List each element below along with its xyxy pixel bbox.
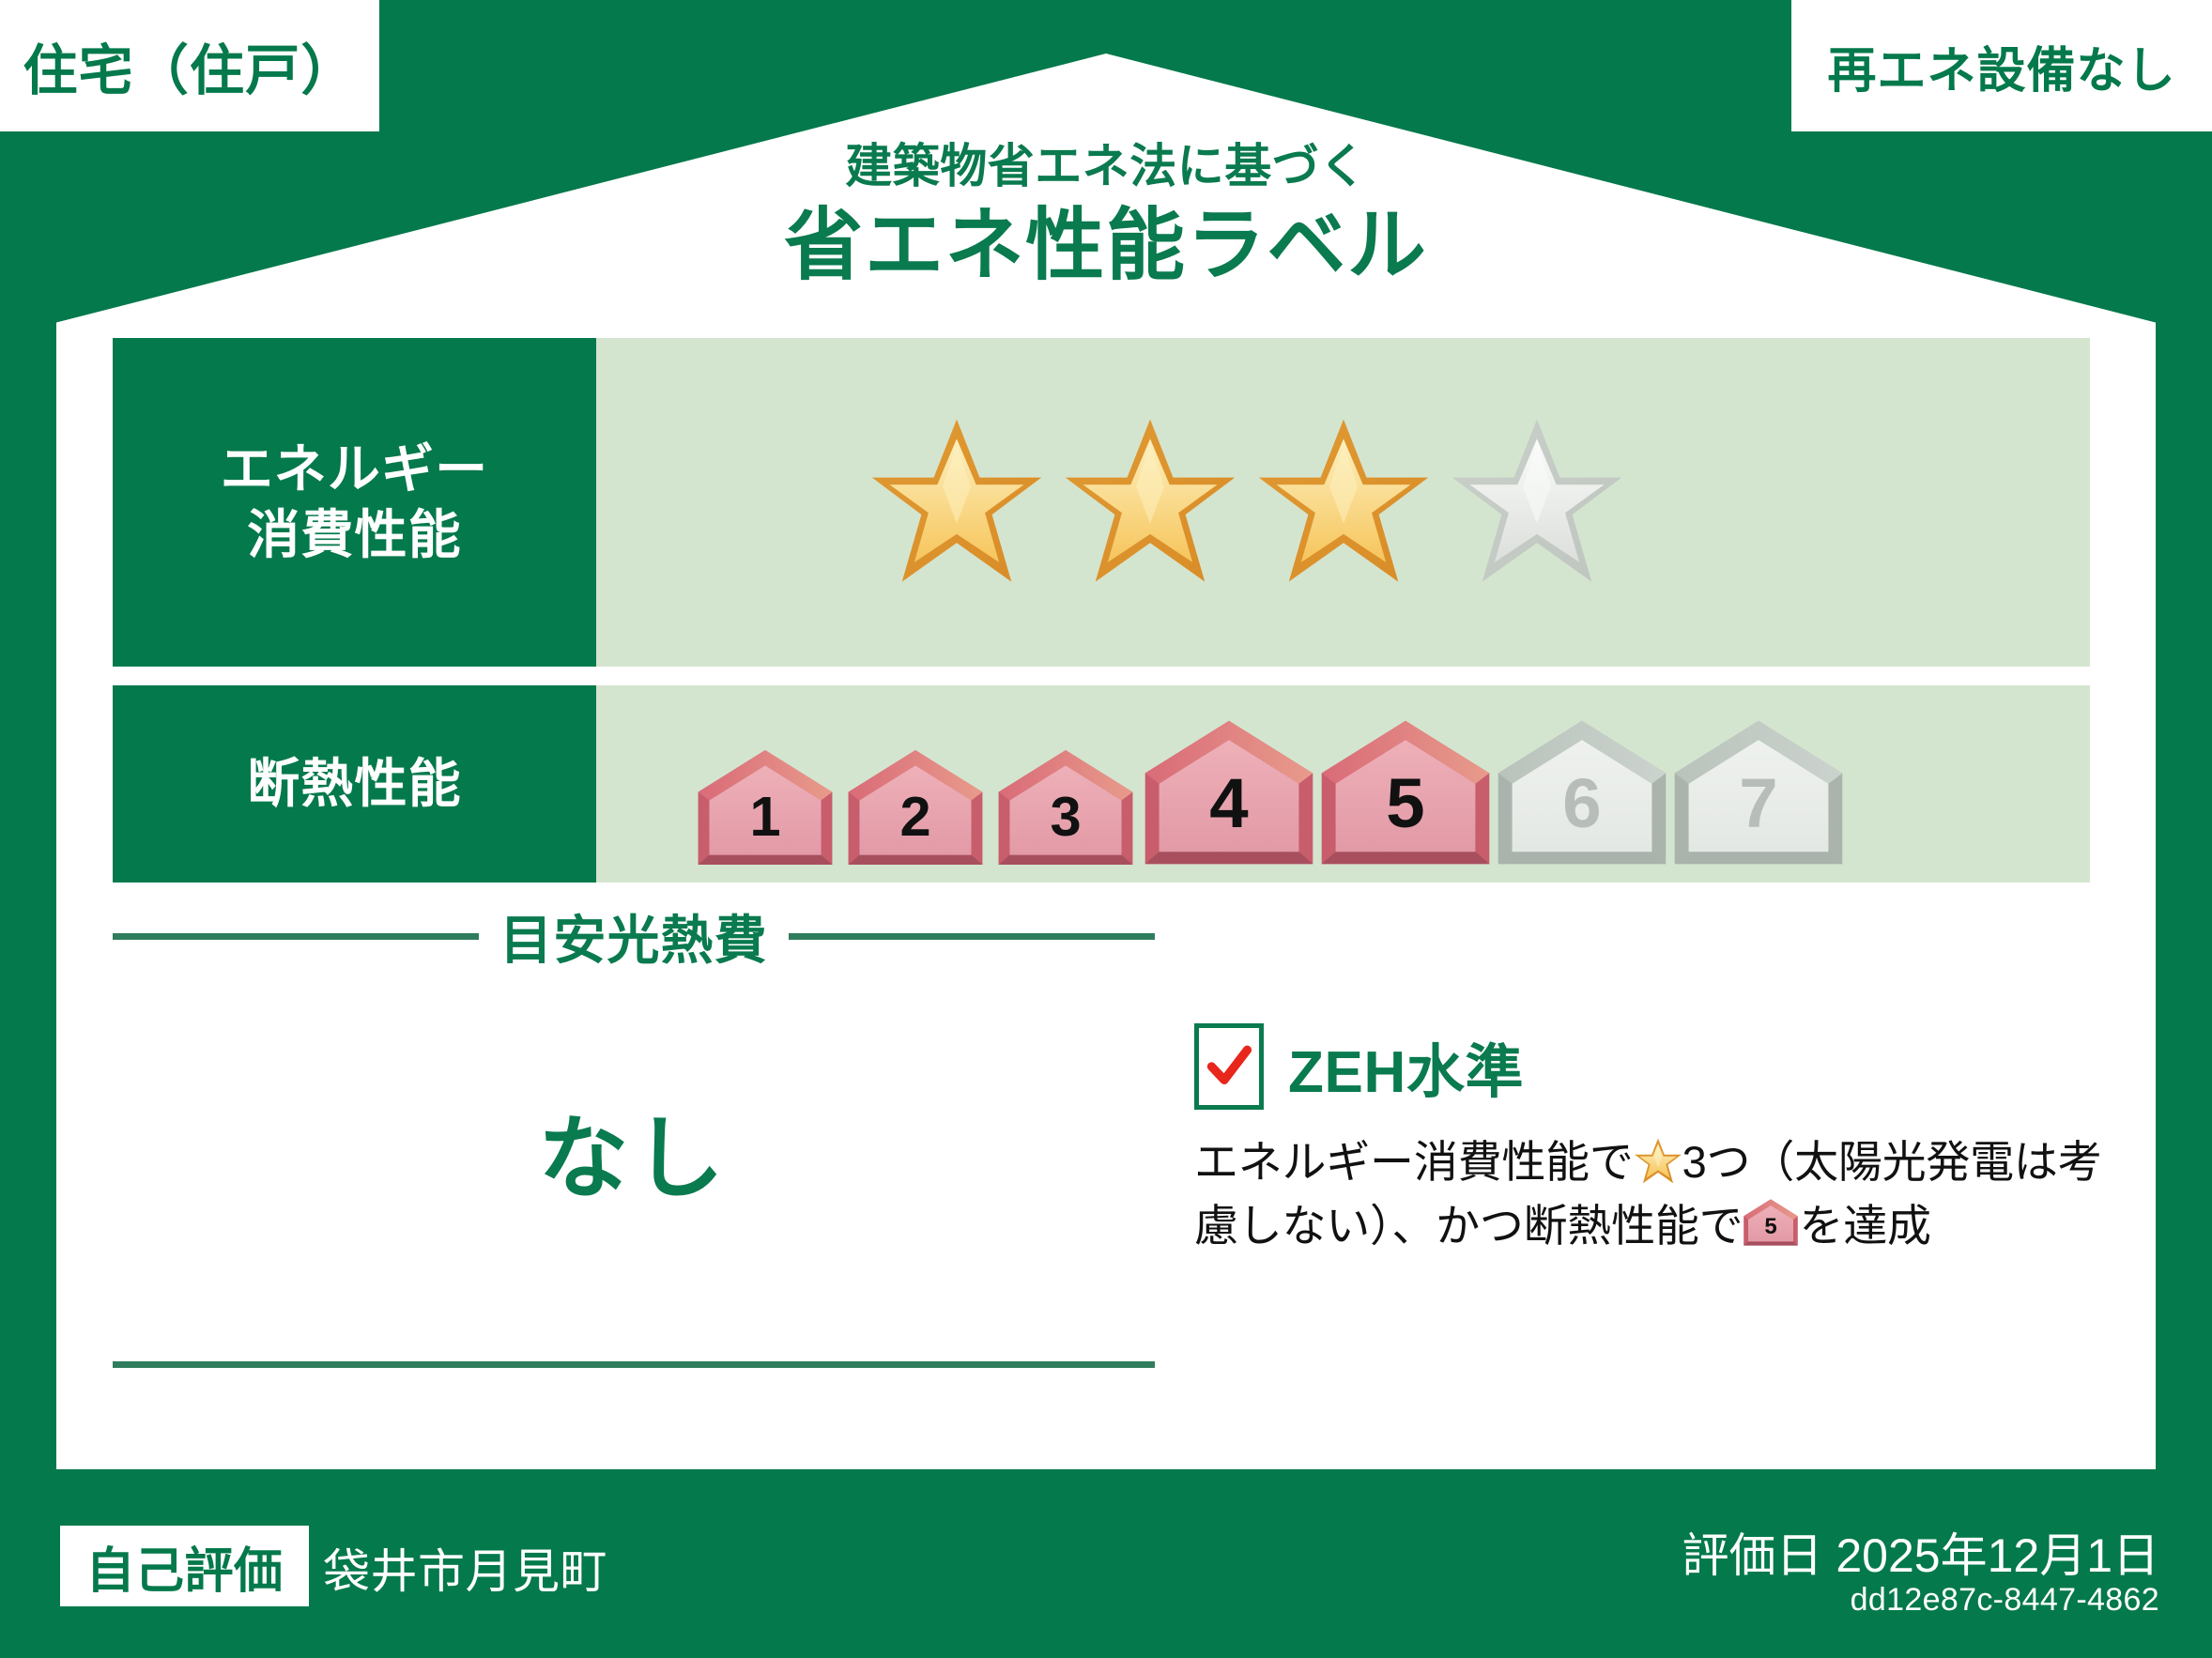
star-filled-icon [1634, 1137, 1682, 1186]
insulation-grade-house: 5 [1317, 717, 1494, 867]
insulation-performance-label: 断熱性能 [113, 685, 596, 883]
energy-label-line1: エネルギー [221, 439, 489, 499]
svg-text:3: 3 [1050, 785, 1081, 848]
zeh-desc-part2: 3つ（太陽光発電 [1682, 1137, 2014, 1187]
insulation-grade-house: 7 [1670, 717, 1847, 867]
evaluation-id: dd12e87c-8447-4862 [1851, 1582, 2159, 1619]
zeh-standard-block: ZEH水準 エネルギー消費性能で3つ（太陽光発電は考慮しない）、かつ断熱性能で5… [1194, 1023, 2114, 1258]
insulation-performance-row: 断熱性能 1234567 [113, 685, 2090, 883]
zeh-desc-part4: を達成 [1799, 1201, 1930, 1251]
label-footer: 自己評価 袋井市月見町 評価日 2025年12月1日 dd12e87c-8447… [0, 1469, 2212, 1658]
renewable-energy-label: 再エネ設備なし [1827, 31, 2175, 101]
svg-text:1: 1 [749, 785, 780, 848]
energy-performance-label: エネルギー 消費性能 [113, 338, 596, 667]
utility-cost-value: なし [113, 1061, 1155, 1239]
evaluation-type-badge: 自己評価 [60, 1526, 309, 1606]
svg-text:5: 5 [1765, 1214, 1777, 1239]
insulation-grade-scale: 1234567 [596, 685, 2090, 883]
insulation-grade-houses: 1234567 [690, 717, 1847, 867]
svg-text:5: 5 [1386, 764, 1424, 842]
energy-label-line2: 消費性能 [247, 505, 461, 564]
zeh-description: エネルギー消費性能で3つ（太陽光発電は考慮しない）、かつ断熱性能で5を達成 [1194, 1130, 2114, 1258]
energy-label-root: 住宅（住戸） 再エネ設備なし 建築物省エネ法に基づく 省エネ性能ラベル エネルギ… [0, 0, 2212, 1658]
svg-text:4: 4 [1209, 764, 1248, 842]
renewable-energy-tag: 再エネ設備なし [1791, 0, 2212, 131]
star-empty-icon [1449, 414, 1625, 591]
energy-star-rating [596, 338, 2090, 667]
check-icon [1204, 1041, 1254, 1092]
star-filled-icon [868, 414, 1045, 591]
insulation-grade-house: 6 [1494, 717, 1670, 867]
utility-cost-section-header: 目安光熱費 [113, 903, 1155, 969]
building-type-tag: 住宅（住戸） [0, 0, 379, 131]
utility-cost-title: 目安光熱費 [499, 898, 768, 975]
star-filled-icon [1062, 414, 1238, 591]
zeh-title: ZEH水準 [1288, 1024, 1524, 1109]
insulation-grade-house: 5 [1743, 1197, 1799, 1248]
svg-text:7: 7 [1739, 764, 1777, 842]
building-type-label: 住宅（住戸） [23, 26, 357, 105]
evaluation-date: 評価日 2025年12月1日 [1682, 1518, 2159, 1586]
zeh-checkbox[interactable] [1194, 1023, 1264, 1110]
star-filled-icon [1255, 414, 1432, 591]
utility-cost-bottom-rule [113, 1361, 1155, 1368]
inline-house-icon: 5 [1743, 1197, 1799, 1253]
svg-text:6: 6 [1562, 764, 1601, 842]
insulation-label-text: 断熱性能 [247, 751, 461, 817]
insulation-grade-house: 4 [1141, 717, 1317, 867]
zeh-header: ZEH水準 [1194, 1023, 2114, 1110]
energy-performance-row: エネルギー 消費性能 [113, 338, 2090, 667]
zeh-desc-part1: エネルギー消費性能で [1194, 1137, 1634, 1187]
insulation-grade-house: 3 [991, 747, 1141, 867]
svg-text:2: 2 [899, 785, 930, 848]
inline-star-icon [1634, 1137, 1682, 1186]
property-location: 袋井市月見町 [323, 1528, 607, 1608]
insulation-grade-house: 1 [690, 747, 840, 867]
insulation-grade-house: 2 [840, 747, 991, 867]
header-rule-right [789, 933, 1155, 940]
header-rule-left [113, 933, 479, 940]
